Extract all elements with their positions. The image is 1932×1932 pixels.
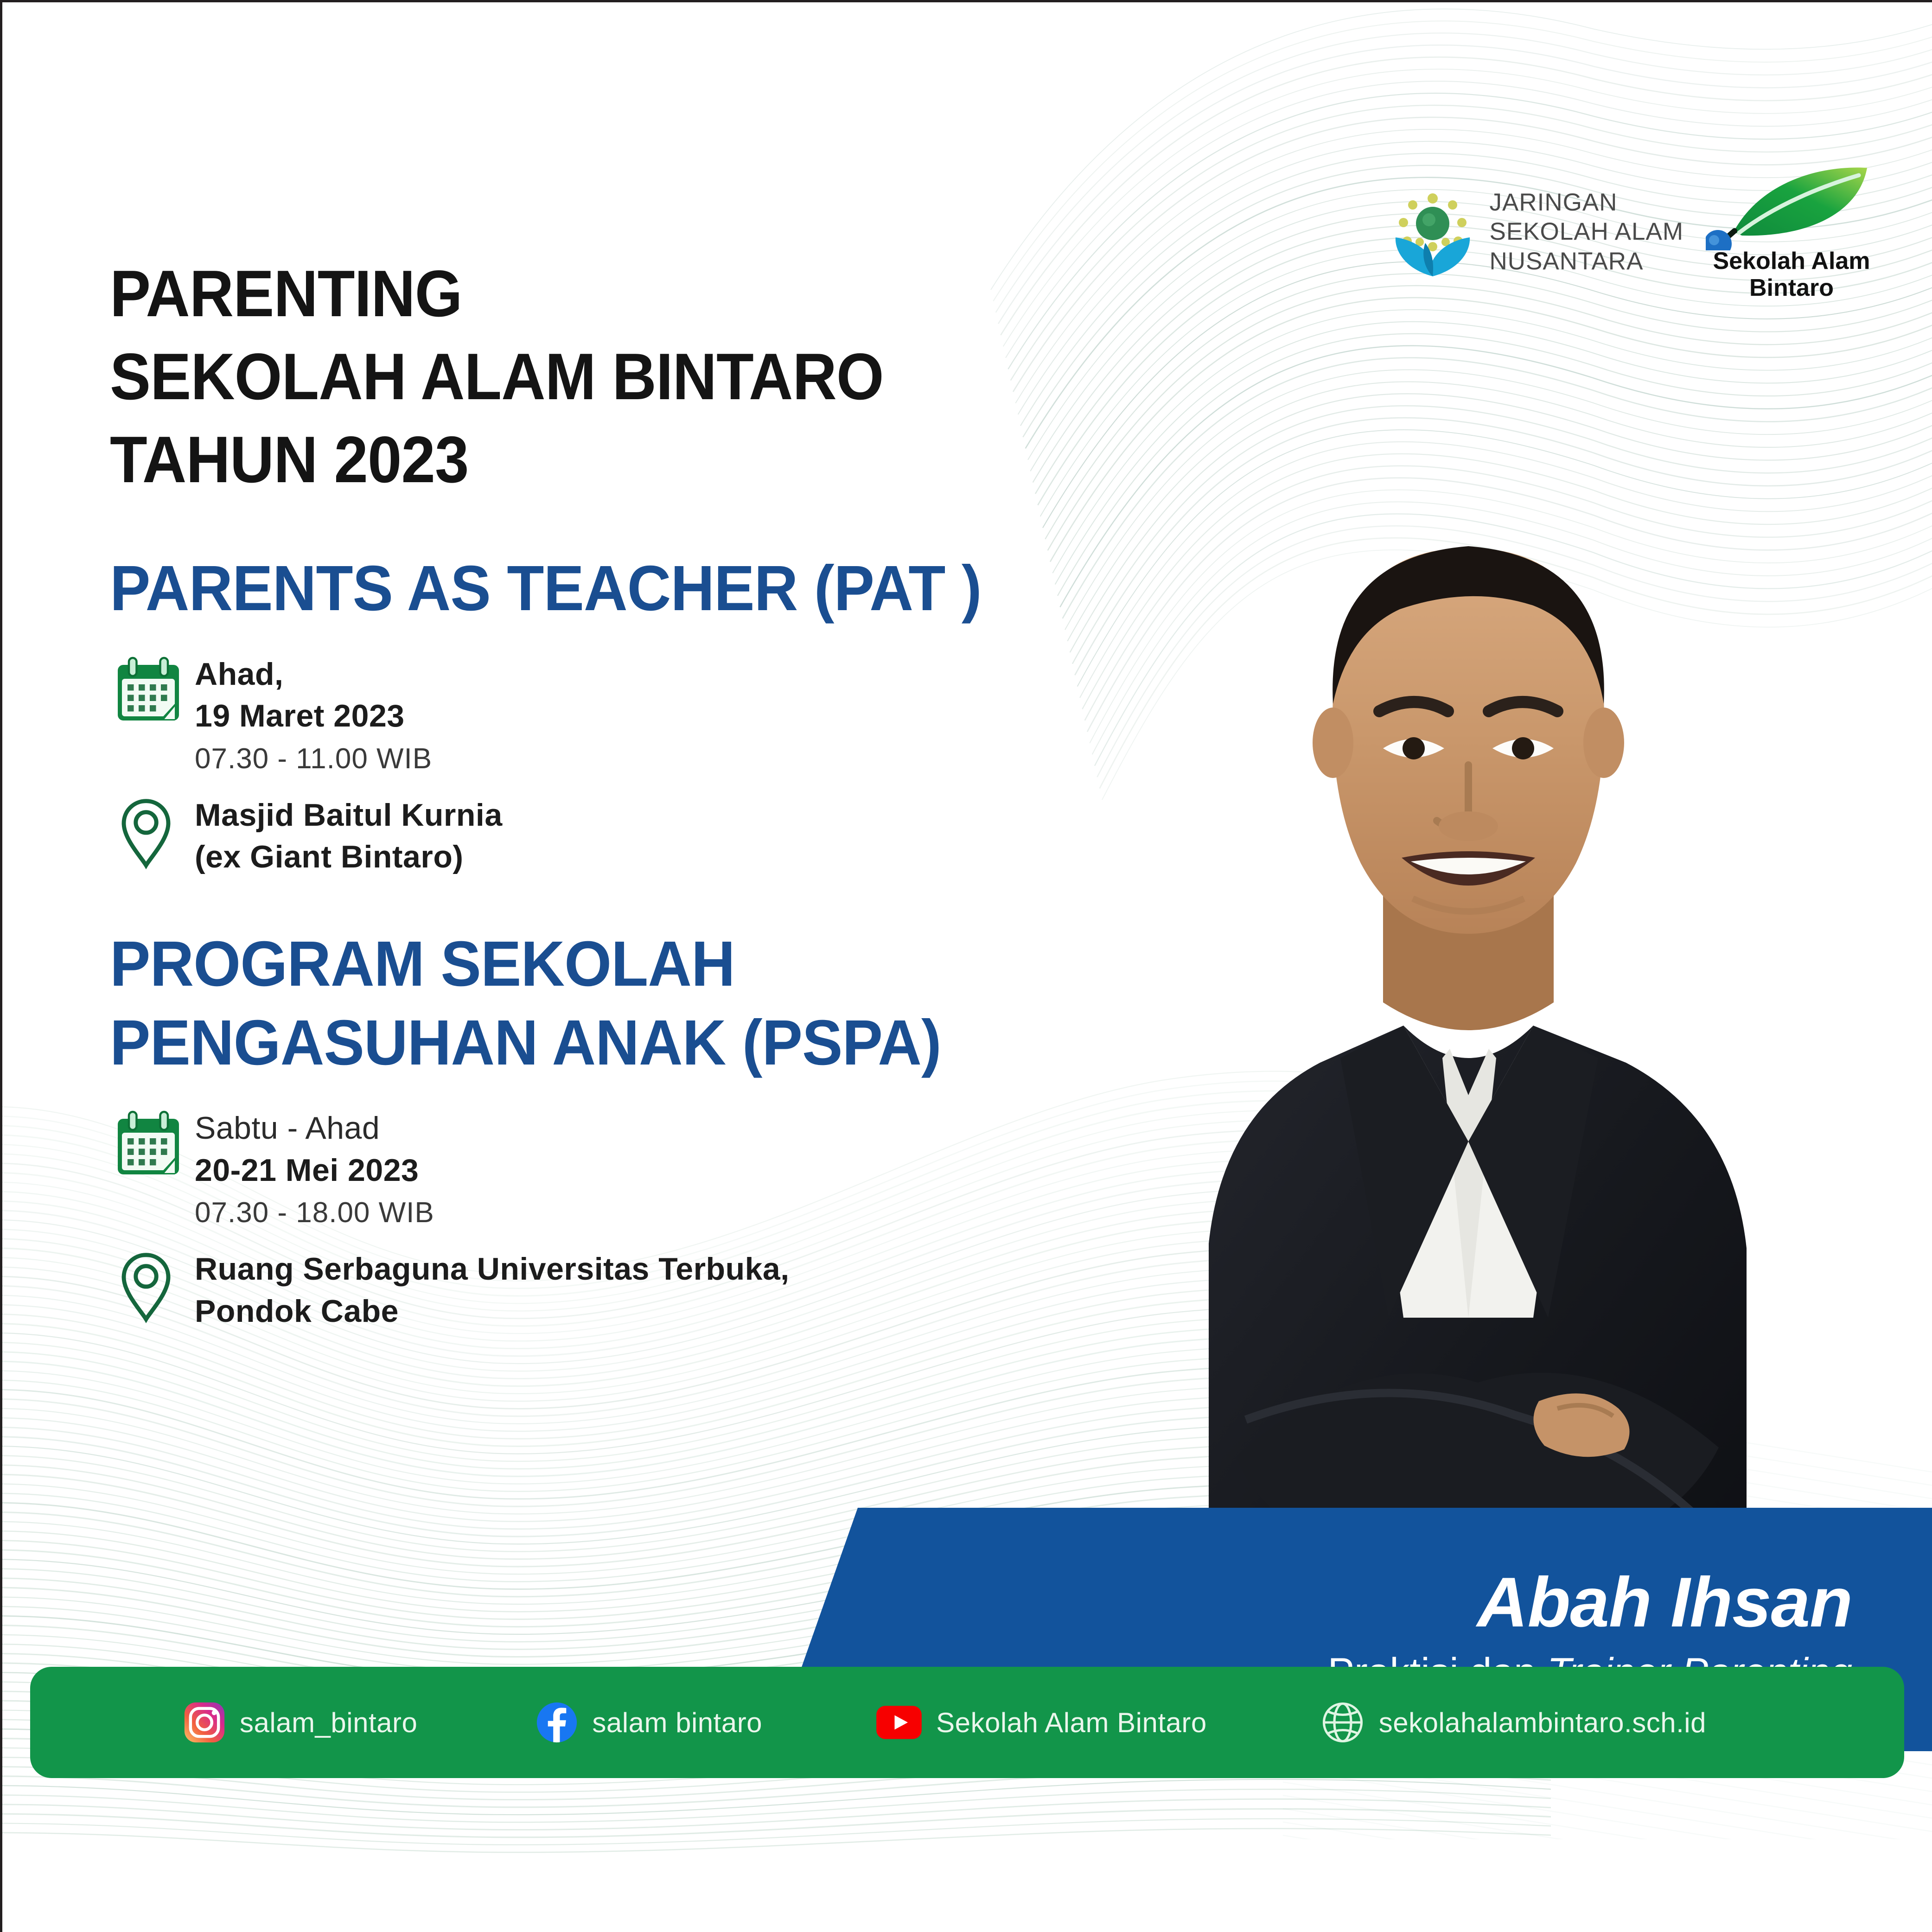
jsan-logo-text: JARINGAN SEKOLAH ALAM NUSANTARA [1489,188,1683,276]
pspa-location-row: Ruang Serbaguna Universitas Terbuka, Pon… [110,1247,985,1332]
social-item-website[interactable]: sekolahalambintaro.sch.id [1320,1700,1706,1745]
title-line-2: SEKOLAH ALAM BINTARO [110,336,884,419]
social-item-instagram[interactable]: salam_bintaro [183,1701,417,1744]
social-label-instagram: salam_bintaro [240,1707,417,1739]
logo-sekolah-alam-bintaro: Sekolah Alam Bintaro [1706,162,1877,301]
map-pin-icon [110,793,195,870]
logo-jaringan-sekolah-alam-nusantara: JARINGAN SEKOLAH ALAM NUSANTARA [1386,185,1683,278]
jsan-line-3: NUSANTARA [1489,247,1683,276]
pat-location-row: Masjid Baitul Kurnia (ex Giant Bintaro) [110,793,1027,878]
calendar-icon [110,1106,195,1179]
title-line-1: PARENTING [110,253,884,336]
social-label-website: sekolahalambintaro.sch.id [1379,1707,1706,1739]
page-title: PARENTING SEKOLAH ALAM BINTARO TAHUN 202… [110,253,942,502]
youtube-icon [876,1705,922,1740]
social-label-youtube: Sekolah Alam Bintaro [936,1707,1207,1739]
calendar-icon [110,652,195,725]
pat-date-text: Ahad, 19 Maret 2023 07.30 - 11.00 WIB [195,652,432,780]
section-pspa-info: Sabtu - Ahad 20-21 Mei 2023 07.30 - 18.0… [110,1106,985,1332]
pspa-location-text: Ruang Serbaguna Universitas Terbuka, Pon… [195,1247,790,1332]
sun-leaf-emblem-icon [1386,185,1479,278]
sab-logo-text: Sekolah Alam Bintaro [1713,248,1870,301]
social-item-facebook[interactable]: salam bintaro [536,1701,762,1744]
jsan-line-2: SEKOLAH ALAM [1489,217,1683,247]
pspa-time: 07.30 - 18.00 WIB [195,1191,434,1234]
jsan-line-1: JARINGAN [1489,188,1683,217]
pat-location-line-2: (ex Giant Bintaro) [195,836,503,878]
section-pat-heading: PARENTS AS TEACHER (PAT ) [110,549,982,628]
pat-date-row: Ahad, 19 Maret 2023 07.30 - 11.00 WIB [110,652,1027,780]
logo-row: JARINGAN SEKOLAH ALAM NUSANTARA [1386,162,1877,301]
pat-time: 07.30 - 11.00 WIB [195,737,432,780]
globe-icon [1320,1700,1365,1745]
pat-date-day: Ahad, [195,653,432,695]
green-leaf-icon [1706,162,1877,250]
social-item-youtube[interactable]: Sekolah Alam Bintaro [876,1705,1207,1740]
poster-canvas: JARINGAN SEKOLAH ALAM NUSANTARA [0,0,1932,1932]
social-label-facebook: salam bintaro [592,1707,762,1739]
section-pat-info: Ahad, 19 Maret 2023 07.30 - 11.00 WIB Ma… [110,652,1027,878]
title-line-3: TAHUN 2023 [110,419,884,502]
facebook-icon [536,1701,578,1744]
sab-line-2: Bintaro [1713,274,1870,301]
pspa-location-line-1: Ruang Serbaguna Universitas Terbuka, [195,1248,790,1290]
instagram-icon [183,1701,226,1744]
section-pspa: PROGRAM SEKOLAH PENGASUHAN ANAK (PSPA) [110,925,985,1345]
sab-line-1: Sekolah Alam [1713,248,1870,274]
pspa-location-line-2: Pondok Cabe [195,1290,790,1332]
pspa-date-text: Sabtu - Ahad 20-21 Mei 2023 07.30 - 18.0… [195,1106,434,1234]
social-footer-bar: salam_bintaro salam bintaro Sekolah Alam… [30,1667,1904,1778]
speaker-name: Abah Ihsan [1328,1563,1852,1641]
map-pin-icon [110,1247,195,1324]
pspa-date-day: Sabtu - Ahad [195,1107,434,1149]
section-pspa-heading-line-2: PENGASUHAN ANAK (PSPA) [110,1004,941,1083]
pspa-date-row: Sabtu - Ahad 20-21 Mei 2023 07.30 - 18.0… [110,1106,985,1234]
pat-date-value: 19 Maret 2023 [195,695,432,737]
pat-location-text: Masjid Baitul Kurnia (ex Giant Bintaro) [195,793,503,878]
section-pat: PARENTS AS TEACHER (PAT ) [110,549,1027,891]
pat-location-line-1: Masjid Baitul Kurnia [195,794,503,836]
pspa-date-value: 20-21 Mei 2023 [195,1149,434,1191]
section-pspa-heading-line-1: PROGRAM SEKOLAH [110,925,941,1004]
